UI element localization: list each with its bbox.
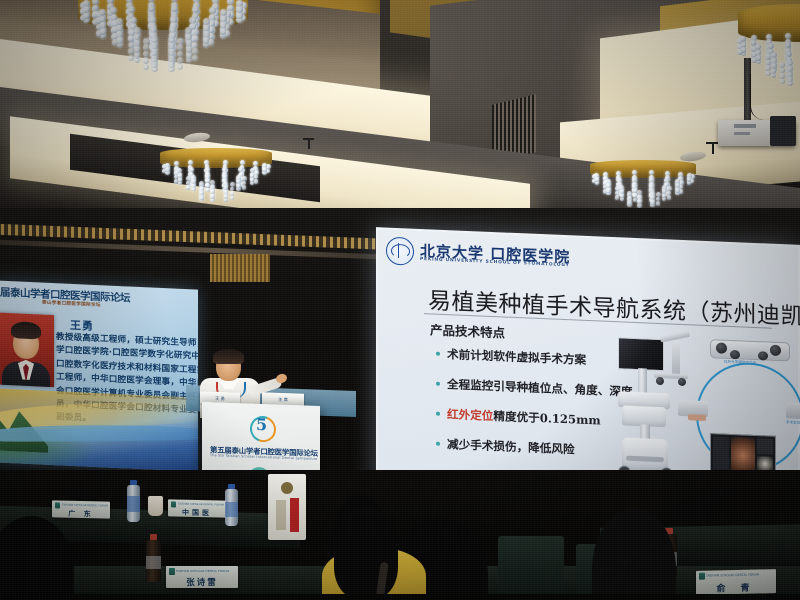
- crystal-chandelier-center: [160, 148, 272, 210]
- bottle-label: [127, 496, 140, 512]
- cart-monitor: [618, 337, 664, 371]
- speaker-portrait-photo: [0, 313, 54, 388]
- chandelier-crystal: [151, 56, 157, 62]
- ir-camera-lens-icon: [770, 345, 781, 356]
- sprinkler-arm-icon: [706, 142, 718, 144]
- nameplate-org: TAISHAN SCHOLAR DENTAL FORUM: [706, 572, 759, 577]
- chandelier-crystal: [675, 188, 680, 193]
- emblem-numeral: 5: [256, 415, 267, 434]
- ir-lens-icon: [678, 378, 686, 386]
- chandelier-crystal: [191, 184, 196, 189]
- ceiling: [0, 0, 800, 240]
- chandelier-crystal: [205, 188, 210, 193]
- audience-nameplate-1: TAISHAN SCHOLAR DENTAL FORUM 广 东: [52, 500, 110, 518]
- chandelier-crystal: [100, 28, 106, 34]
- chandelier-crystal: [168, 56, 174, 62]
- chandelier-crystal: [151, 62, 157, 68]
- audience-nameplate-2: TAISHAN SCHOLAR DENTAL FORUM 中国医: [168, 499, 226, 517]
- bullet-dot-icon: [436, 351, 440, 355]
- tissue-box-band: [290, 498, 299, 532]
- chandelier-crystal: [186, 53, 192, 59]
- nameplate-name: 中国医: [168, 507, 226, 518]
- chandelier-crystal: [220, 28, 226, 34]
- chandelier-crystal: [210, 194, 215, 199]
- chandelier-crystal: [134, 46, 140, 52]
- water-bottle: [126, 480, 140, 522]
- software-panel-right-top: [757, 438, 773, 455]
- speaker-intro-poster: 五届泰山学者口腔医学国际论坛 泰山学者口腔医学国际论坛 王勇 教授级高级工程师，…: [0, 280, 198, 471]
- bullet-dot-icon: [436, 441, 440, 445]
- chandelier-crystal: [242, 185, 247, 190]
- chandelier-crystal: [656, 201, 661, 206]
- cart-arm-vertical: [672, 342, 680, 376]
- slide-subtitle: 产品技术特点: [430, 319, 505, 341]
- tissue-box: [268, 474, 306, 540]
- sprinkler-icon: [712, 144, 714, 154]
- chandelier-crystal: [143, 64, 149, 70]
- chandelier-crystal: [627, 200, 632, 205]
- audience-member-silhouette: [592, 508, 676, 600]
- nameplate-name: 广 东: [52, 508, 110, 519]
- chandelier-crystal: [177, 64, 183, 70]
- chandelier-crystal: [143, 57, 149, 63]
- chair-back: [498, 536, 564, 598]
- chandelier-crystal: [151, 49, 158, 56]
- tissue-box-emblem-icon: [281, 482, 293, 494]
- speaker-hair: [213, 349, 244, 364]
- audience-member-yellow-jacket: [312, 510, 432, 600]
- sprinkler-arm-icon: [303, 138, 314, 140]
- diagram-caption-locator: 手术定位器: [786, 420, 800, 426]
- chandelier-crystal: [254, 179, 259, 184]
- dental-model-illustration: [688, 414, 706, 421]
- chandelier-crystal: [168, 62, 174, 68]
- projector-vent-icon: [734, 124, 756, 128]
- bottle-label: [225, 502, 238, 517]
- nameplate-name: 张诗雷: [166, 576, 238, 588]
- poster-wave-graphic: [0, 424, 198, 442]
- paper-cup: [148, 496, 163, 516]
- chandelier-crystal: [192, 55, 198, 61]
- nameplate-org: TAISHAN SCHOLAR DENTAL FORUM: [178, 502, 224, 506]
- nameplate-logo-icon: [699, 573, 705, 580]
- bullet-dot-icon: [436, 411, 440, 415]
- conference-hall-photo: 五届泰山学者口腔医学国际论坛 泰山学者口腔医学国际论坛 王勇 教授级高级工程师，…: [0, 0, 800, 600]
- workflow-diagram: 红外光学跟踪定位仪 手术定位器 手术导航 术中实时: [694, 336, 800, 481]
- ir-camera-lens-icon: [730, 350, 740, 359]
- nameplate-org: TAISHAN SCHOLAR DENTAL FORUM: [62, 503, 108, 507]
- audience-foreground: TAISHAN SCHOLAR DENTAL FORUM 广 东 TAISHAN…: [0, 470, 800, 600]
- bottle-label: [146, 556, 161, 569]
- audience-nameplate-3: TAISHAN SCHOLAR DENTAL FORUM 张诗雷: [166, 566, 238, 588]
- projector-cable: [750, 74, 769, 120]
- chandelier-crystal: [205, 183, 210, 188]
- tissue-box-text-block: [276, 500, 286, 530]
- chandelier-crystal: [186, 185, 191, 190]
- water-bottle: [224, 484, 238, 526]
- cart-column: [638, 368, 647, 394]
- chandelier-crystal: [606, 188, 611, 193]
- long-hair: [334, 506, 398, 598]
- chandelier-crystal: [177, 57, 183, 63]
- chandelier-crystal: [199, 195, 204, 200]
- audience-nameplate-4: TAISHAN SCHOLAR DENTAL FORUM 俞 青: [696, 569, 776, 595]
- peking-university-seal-icon: [386, 237, 414, 266]
- chandelier-crystal: [117, 37, 123, 43]
- chandelier-crystal: [168, 49, 175, 56]
- chandelier-crystal: [83, 13, 90, 20]
- portrait-hair: [11, 321, 41, 339]
- ir-camera-lens-icon: [716, 342, 727, 353]
- chandelier-crystal: [165, 167, 170, 172]
- nameplate-logo-icon: [169, 568, 175, 575]
- chandelier-crystal: [667, 195, 672, 200]
- projector-lens-block: [770, 116, 796, 146]
- bullet-highlight: 红外定位: [447, 407, 493, 423]
- projector-vent-icon: [734, 132, 750, 135]
- cart-base-body: [622, 437, 668, 471]
- nameplate-name: 俞 青: [696, 580, 776, 595]
- poster-subheader: 泰山学者口腔医学国际论坛: [42, 300, 101, 309]
- ir-lens-icon: [656, 377, 664, 385]
- chandelier-crystal: [186, 46, 192, 52]
- chandelier-crystal: [192, 48, 198, 54]
- chandelier-crystal: [230, 196, 235, 201]
- software-3d-view: [731, 437, 755, 471]
- ceiling-projector: [720, 58, 800, 166]
- nameplate-name: 主 席: [262, 396, 304, 403]
- soda-bottle: [145, 534, 161, 582]
- ir-camera-lens-icon: [758, 351, 768, 360]
- bullet-text: 精度优于0.125mm: [493, 409, 600, 427]
- crystal-chandelier-left: [78, 0, 248, 94]
- chandelier-crystal: [615, 195, 620, 200]
- bullet-dot-icon: [436, 381, 440, 385]
- nameplate-org: TAISHAN SCHOLAR DENTAL FORUM: [176, 569, 229, 573]
- foreground-shadow: [0, 594, 800, 600]
- handpiece-illustration-right: [786, 402, 800, 419]
- sprinkler-icon: [308, 140, 310, 149]
- wall-wood-accent: [210, 254, 270, 282]
- chandelier-crystal: [650, 200, 655, 205]
- forum-emblem-icon: 5: [244, 413, 274, 442]
- software-panel-left: [713, 436, 729, 470]
